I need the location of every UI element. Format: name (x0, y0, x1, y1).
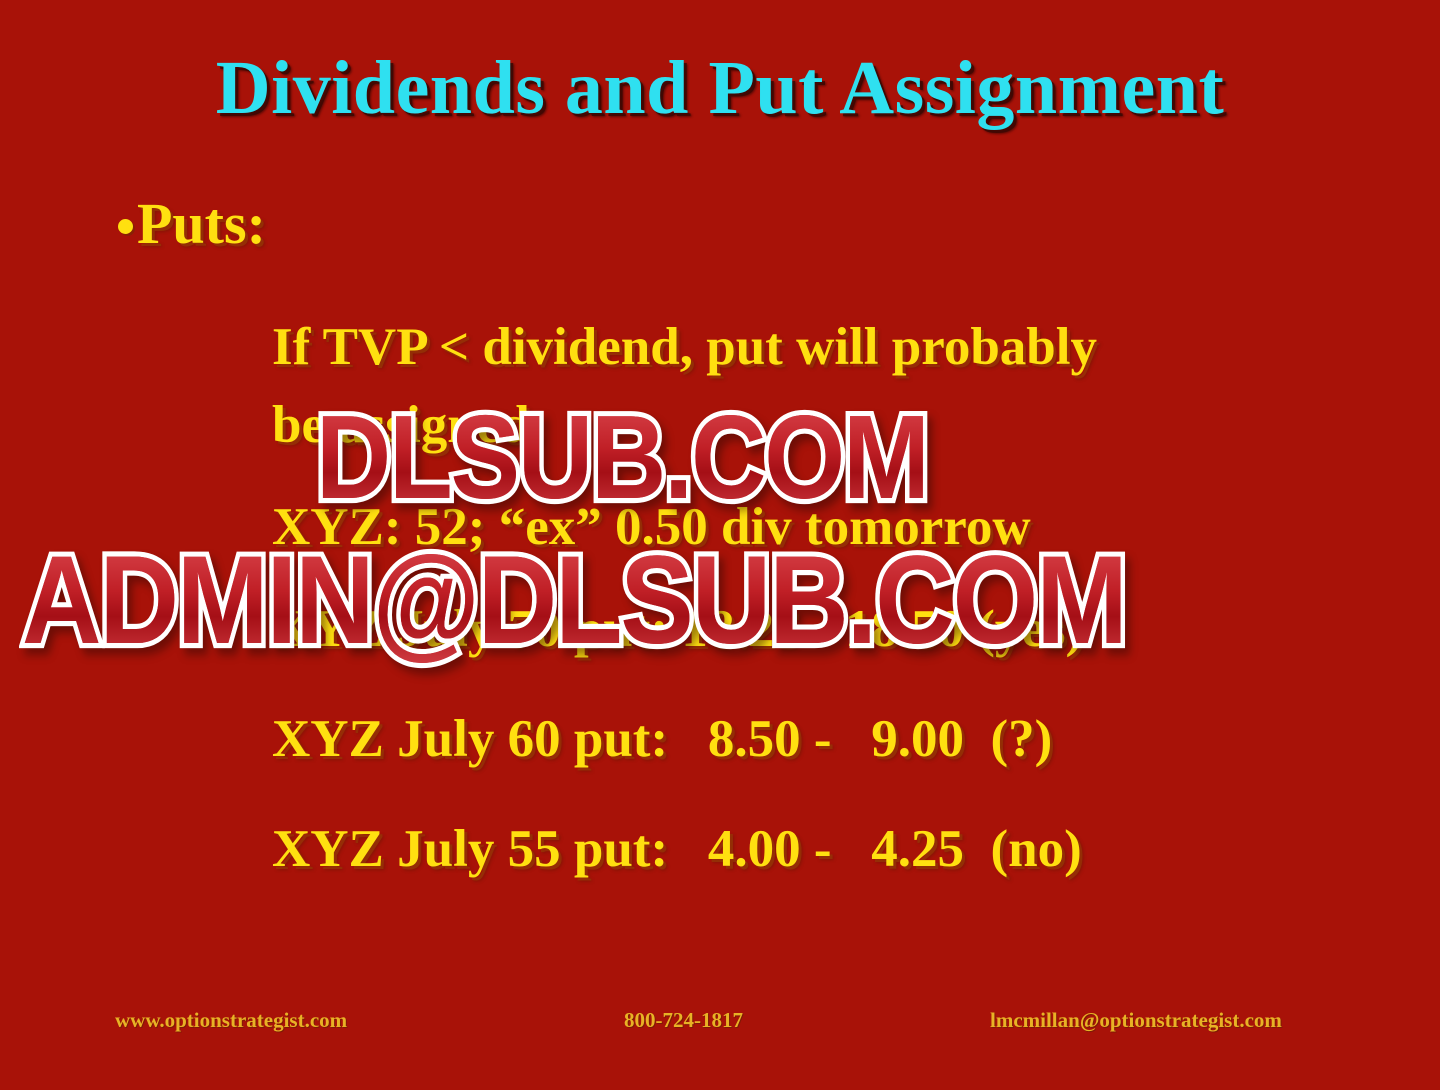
footer-phone: 800-724-1817 (624, 1006, 743, 1034)
bullet-list-item: Puts: (118, 193, 266, 255)
watermark-dlsub-fill: DLSUB.COM (316, 399, 928, 518)
body-line-condition: If TVP < dividend, put will probably (272, 318, 1332, 376)
spacer (272, 768, 1332, 820)
footer-email[interactable]: lmcmillan@optionstrategist.com (990, 1006, 1282, 1034)
footer: www.optionstrategist.com 800-724-1817 lm… (0, 1006, 1440, 1040)
page-title: Dividends and Put Assignment (0, 46, 1440, 130)
bullet-item-label: Puts: (137, 193, 266, 255)
watermark-admin-fill: ADMIN@DLSUB.COM (22, 538, 1126, 663)
slide-canvas: Dividends and Put Assignment Puts: If TV… (0, 0, 1440, 1090)
bullet-dot-icon (118, 219, 133, 234)
body-line-put-55: XYZ July 55 put: 4.00 - 4.25 (no) (272, 820, 1332, 878)
footer-website[interactable]: www.optionstrategist.com (115, 1006, 347, 1034)
body-line-put-60: XYZ July 60 put: 8.50 - 9.00 (?) (272, 710, 1332, 768)
